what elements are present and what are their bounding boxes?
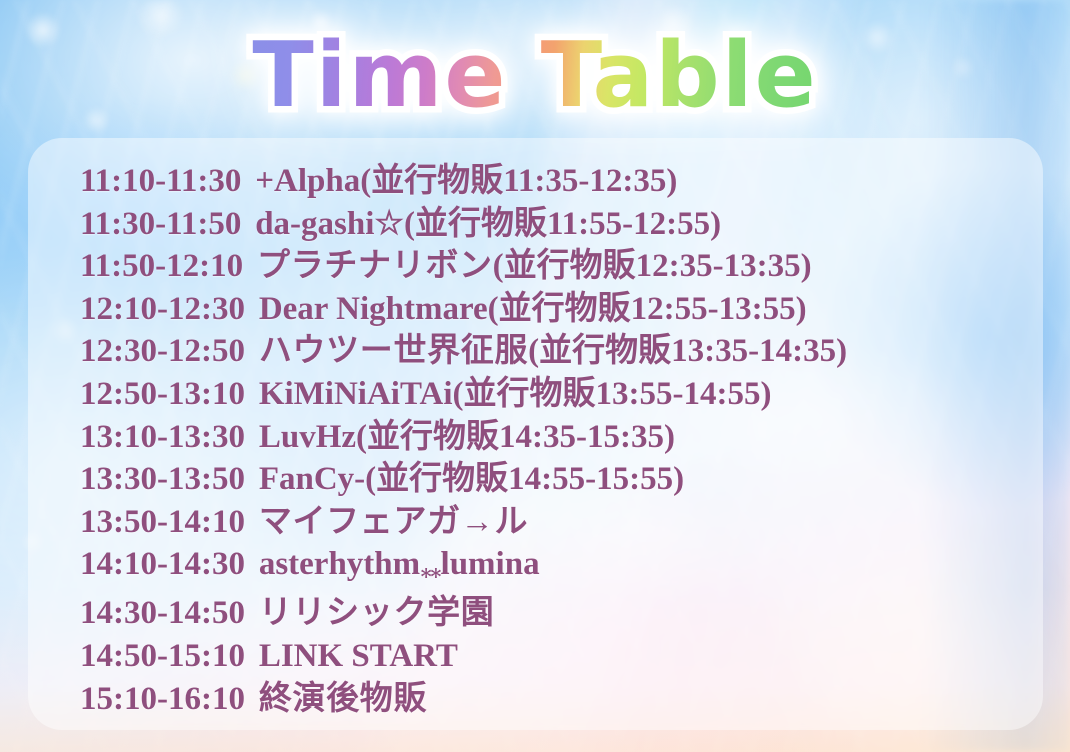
- schedule-row-sales-window: (並行物販14:35-15:35): [356, 419, 675, 455]
- schedule-row-act-name: LINK START: [259, 638, 458, 674]
- schedule-row-sales-window: (並行物販13:35-14:35): [528, 333, 847, 369]
- schedule-row: 15:10-16:10終演後物販: [80, 678, 1000, 721]
- schedule-row-time: 14:50-15:10: [80, 638, 245, 674]
- schedule-row-sales-window: (並行物販11:55-12:55): [404, 206, 721, 242]
- star-icon: ⁎⁎: [421, 559, 441, 583]
- schedule-row-act-name: KiMiNiAiTAi: [259, 376, 453, 412]
- schedule-row-act-name: FanCy-: [259, 461, 365, 497]
- schedule-row-time: 11:30-11:50: [80, 206, 241, 242]
- schedule-row-act-name: asterhythm⁎⁎lumina: [259, 546, 540, 582]
- schedule-row-act-name: LuvHz: [259, 419, 356, 455]
- schedule-row: 12:10-12:30Dear Nightmare(並行物販12:55-13:5…: [80, 288, 1000, 331]
- schedule-row-time: 14:10-14:30: [80, 546, 245, 582]
- schedule-row-sales-window: (並行物販13:55-14:55): [453, 376, 772, 412]
- schedule-row-act-name: +Alpha: [255, 163, 360, 199]
- schedule-row-act-name: プラチナリボン: [257, 248, 493, 284]
- schedule-row-time: 12:30-12:50: [80, 333, 245, 369]
- schedule-row: 11:30-11:50da-gashi☆(並行物販11:55-12:55): [80, 203, 1000, 246]
- schedule-row-time: 11:10-11:30: [80, 163, 241, 199]
- schedule-row-sales-window: (並行物販12:55-13:55): [488, 291, 807, 327]
- schedule-row: 14:30-14:50リリシック学園: [80, 592, 1000, 635]
- schedule-row: 14:50-15:10LINK START: [80, 635, 1000, 678]
- act-name-part: asterhythm: [259, 546, 420, 582]
- schedule-row: 14:10-14:30asterhythm⁎⁎lumina: [80, 543, 1000, 592]
- schedule-row: 13:10-13:30LuvHz(並行物販14:35-15:35): [80, 416, 1000, 459]
- schedule-row-time: 15:10-16:10: [80, 681, 245, 717]
- schedule-row: 13:30-13:50FanCy-(並行物販14:55-15:55): [80, 458, 1000, 501]
- page-title: Time Table Time Table: [0, 24, 1070, 128]
- schedule-row-act-name: マイフェアガ→ル: [259, 504, 528, 540]
- schedule-row-time: 13:30-13:50: [80, 461, 245, 497]
- schedule-row-sales-window: (並行物販12:35-13:35): [493, 248, 812, 284]
- act-name-part: lumina: [441, 546, 540, 582]
- schedule-row-time: 11:50-12:10: [80, 248, 243, 284]
- timetable-poster: Time Table Time Table 11:10-11:30+Alpha(…: [0, 0, 1070, 752]
- schedule-row-sales-window: (並行物販11:35-12:35): [360, 163, 677, 199]
- schedule-row-time: 12:10-12:30: [80, 291, 245, 327]
- page-title-text: Time Table: [252, 23, 817, 128]
- schedule-row: 12:50-13:10KiMiNiAiTAi(並行物販13:55-14:55): [80, 373, 1000, 416]
- schedule-row-time: 14:30-14:50: [80, 595, 245, 631]
- schedule-row: 11:10-11:30+Alpha(並行物販11:35-12:35): [80, 160, 1000, 203]
- schedule-row-sales-window: (並行物販14:55-15:55): [365, 461, 684, 497]
- schedule-row: 12:30-12:50ハウツー世界征服(並行物販13:35-14:35): [80, 330, 1000, 373]
- schedule-row-act-name: ハウツー世界征服: [259, 333, 528, 369]
- schedule-row-act-name: 終演後物販: [259, 681, 427, 717]
- schedule-row: 11:50-12:10プラチナリボン(並行物販12:35-13:35): [80, 245, 1000, 288]
- schedule-row-act-name: Dear Nightmare: [259, 291, 488, 327]
- schedule-row-time: 12:50-13:10: [80, 376, 245, 412]
- schedule-list: 11:10-11:30+Alpha(並行物販11:35-12:35)11:30-…: [80, 160, 1000, 720]
- schedule-row-act-name: リリシック学園: [259, 595, 495, 631]
- schedule-row-time: 13:50-14:10: [80, 504, 245, 540]
- schedule-row-time: 13:10-13:30: [80, 419, 245, 455]
- schedule-row-act-name: da-gashi☆: [255, 206, 404, 242]
- schedule-row: 13:50-14:10マイフェアガ→ル: [80, 501, 1000, 544]
